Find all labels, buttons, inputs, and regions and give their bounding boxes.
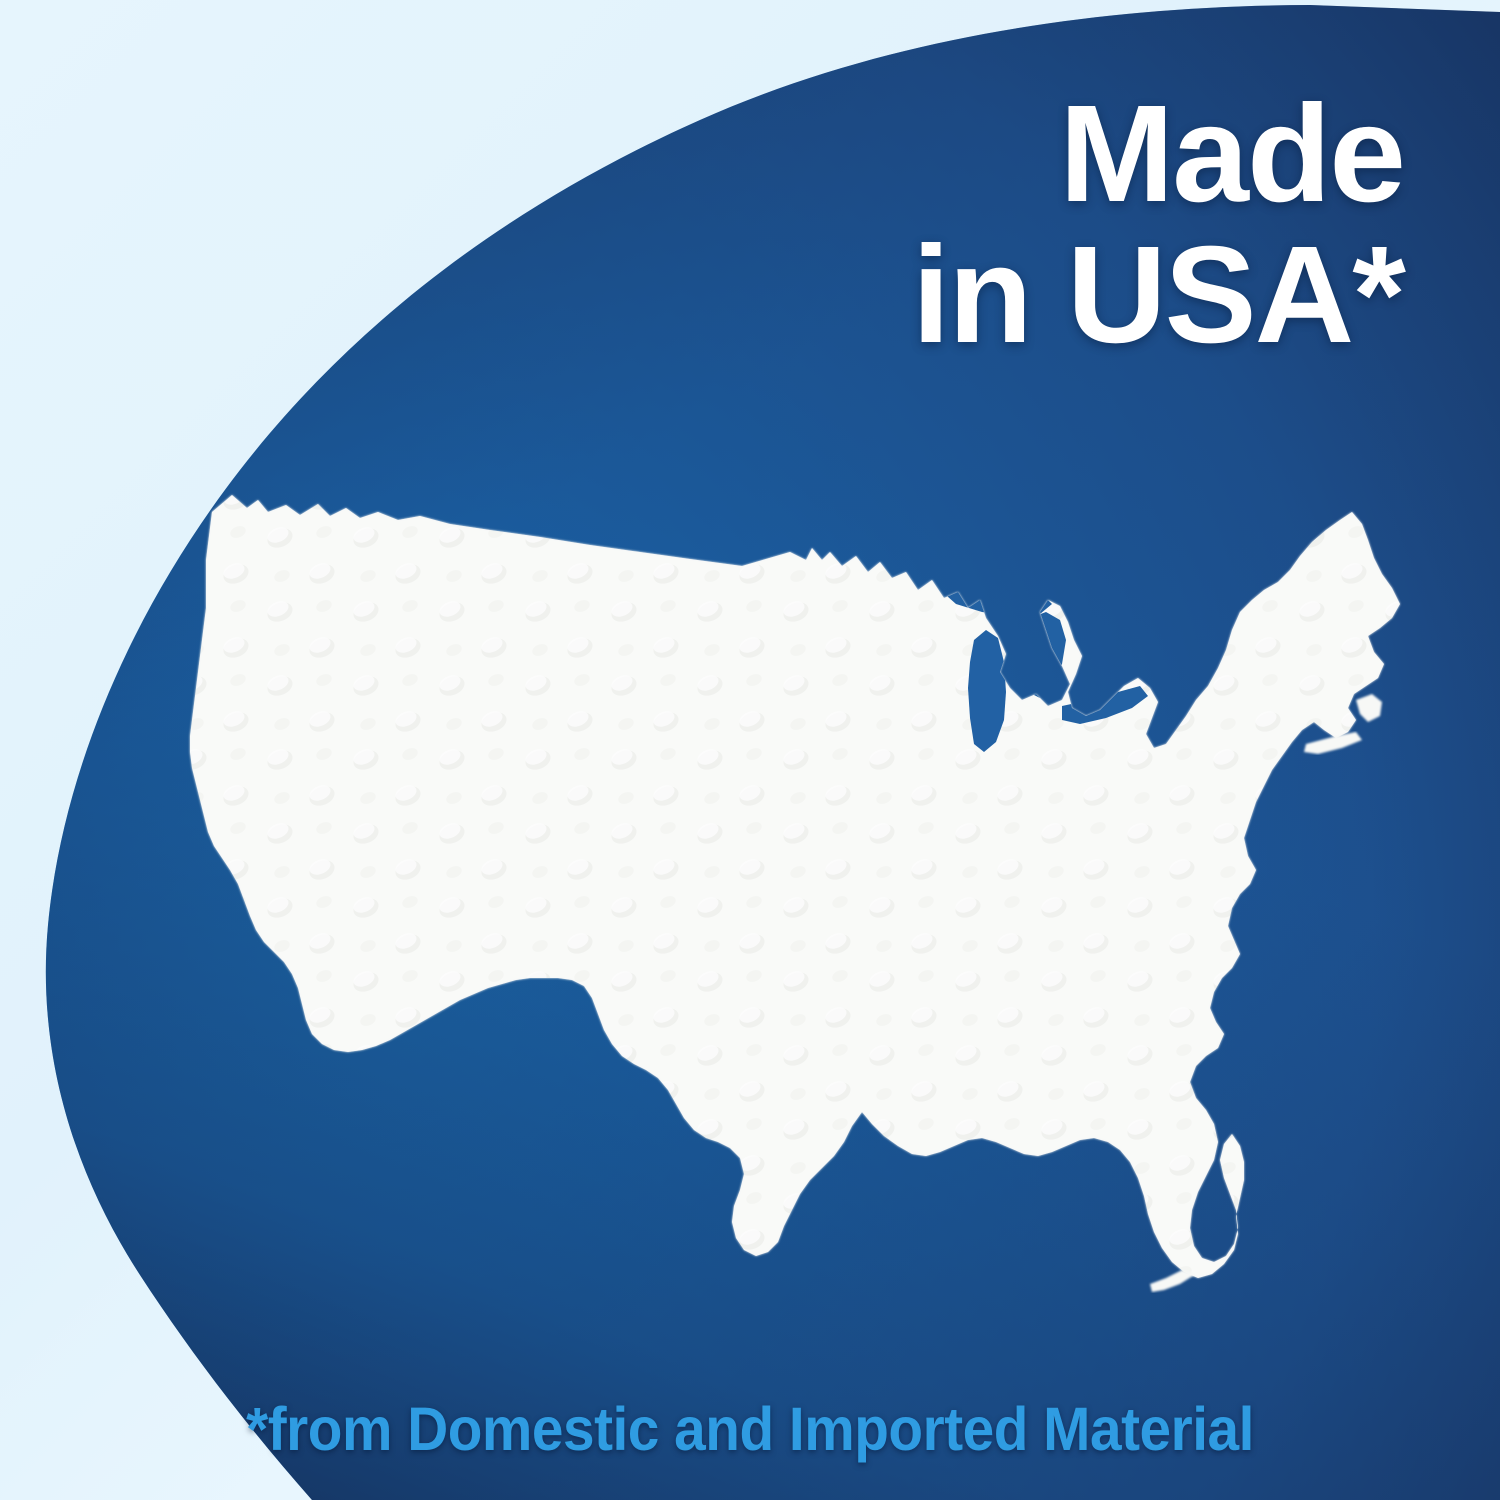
footnote-caption: *from Domestic and Imported Material <box>53 1394 1448 1464</box>
poster-canvas: Made in USA* *from Domestic and Imported… <box>0 0 1500 1500</box>
headline: Made in USA* <box>504 84 1404 366</box>
headline-line-1: Made <box>504 84 1404 225</box>
headline-line-2: in USA* <box>504 225 1404 366</box>
